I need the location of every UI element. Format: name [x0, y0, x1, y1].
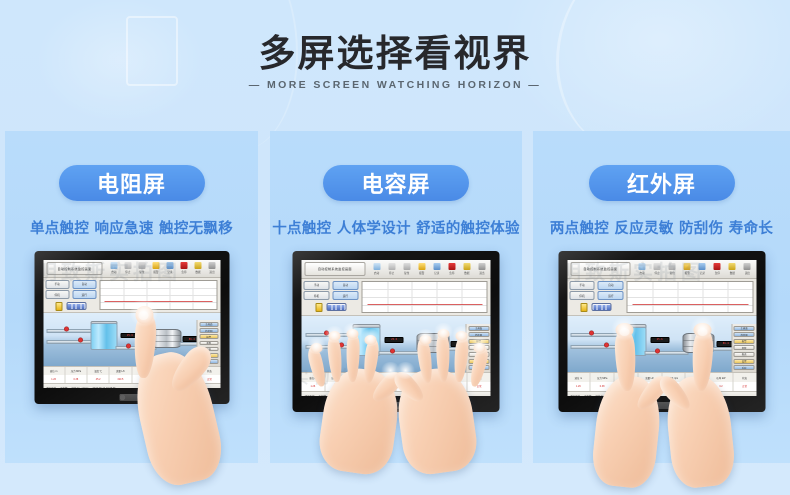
readout-display-1: 25.6: [121, 333, 139, 339]
page-title: 多屏选择看视界: [0, 23, 790, 77]
reaction-tank: [353, 327, 381, 356]
control-button-auto[interactable]: 自动: [598, 281, 624, 290]
rail-button-params[interactable]: 参数: [468, 345, 489, 350]
reaction-tank: [618, 327, 646, 356]
panel-features-resistive: 单点触控 响应急速 触控无飘移: [5, 217, 258, 238]
control-button-halt[interactable]: 停机: [45, 290, 69, 299]
hmi-side-rail[interactable]: 主画面 趋势图 报警 参数 报表 设置 系统: [197, 320, 220, 366]
hmi-process-diagram[interactable]: 25.6 86.4 主画面 趋势图 报警 参数: [43, 313, 220, 366]
toolbar-button-alarm[interactable]: 报警: [150, 262, 162, 274]
hmi-toolbar[interactable]: 启动 停止 复位 报警 记录 急停 数据 退出: [106, 260, 220, 277]
status-operator: 操作员：admin: [72, 386, 89, 388]
rail-button-system[interactable]: 系统: [734, 365, 755, 370]
control-button-manual[interactable]: 手动: [45, 280, 69, 289]
rail-button-alarm[interactable]: 报警: [199, 334, 218, 339]
toolbar-button-reset[interactable]: 复位: [400, 263, 413, 275]
monitor-bezel-3: 自动控制系统监控画面 启动 停止 复位 报警 记录 急停 数据 退出: [558, 251, 765, 412]
hmi-control-panel[interactable]: 手动 自动 停机 运行: [43, 278, 98, 313]
toolbar-label: 报警: [153, 270, 158, 274]
page-header: 多屏选择看视界 — MORE SCREEN WATCHING HORIZON —: [0, 0, 790, 120]
hmi-screen-2[interactable]: 自动控制系统监控画面 启动 停止 复位 报警 记录 急停 数据 退出: [302, 260, 491, 396]
monitor-brand-logo: [650, 402, 674, 409]
rail-button-params[interactable]: 参数: [199, 341, 218, 346]
rail-button-trend[interactable]: 趋势图: [468, 332, 489, 337]
status-alarm: 无报警: [584, 394, 592, 396]
reaction-tank: [91, 323, 118, 350]
panel-features-infrared: 两点触控 反应灵敏 防刮伤 寿命长: [533, 217, 790, 238]
rail-button-report[interactable]: 报表: [734, 352, 755, 357]
hmi-control-chart-row: 手动 自动 停机 运行: [302, 279, 491, 317]
rail-button-report[interactable]: 报表: [199, 347, 218, 352]
hmi-control-chart-row: 手动 自动 停机 运行: [43, 278, 220, 314]
rail-button-settings[interactable]: 设置: [734, 359, 755, 364]
hmi-data-table: 液位 m1.26 压力 MPa0.38 温度 ℃45.2 流量 L/h320.5…: [302, 373, 491, 392]
hmi-side-rail[interactable]: 主画面 趋势图 报警 参数 报表 设置 系统: [466, 324, 491, 373]
status-comm: 通讯正常: [305, 394, 315, 396]
hmi-trend-chart[interactable]: [99, 280, 217, 311]
toolbar-button-record[interactable]: 记录: [696, 263, 709, 275]
panel-badge-capacitive: 电容屏: [323, 165, 469, 201]
control-button-auto[interactable]: 自动: [72, 280, 96, 289]
control-button-run[interactable]: 运行: [332, 291, 358, 300]
panel-infrared[interactable]: 红外屏 两点触控 反应灵敏 防刮伤 寿命长 自动控制系统监控画面 启动 停止 复…: [533, 131, 790, 463]
toolbar-button-estop[interactable]: 急停: [711, 263, 724, 275]
indicator-lamp-icon: [55, 302, 62, 311]
hmi-titlebar-2: 自动控制系统监控画面 启动 停止 复位 报警 记录 急停 数据 退出: [302, 260, 491, 279]
rail-button-report[interactable]: 报表: [468, 352, 489, 357]
hmi-toolbar[interactable]: 启动 停止 复位 报警 记录 急停 数据 退出: [634, 260, 756, 278]
status-comm: 通讯正常: [570, 394, 580, 396]
indicator-lamp-icon: [315, 303, 322, 312]
hmi-control-panel[interactable]: 手动 自动 停机 运行: [567, 279, 626, 316]
control-button-manual[interactable]: 手动: [569, 281, 595, 290]
storage-vessel: [417, 333, 449, 353]
toolbar-button-stop[interactable]: 停止: [385, 263, 398, 275]
rail-button-main[interactable]: 主画面: [734, 326, 755, 331]
storage-vessel: [151, 329, 181, 348]
toolbar-button-start[interactable]: 启动: [636, 263, 649, 275]
hmi-titlebar-3: 自动控制系统监控画面 启动 停止 复位 报警 记录 急停 数据 退出: [567, 260, 756, 279]
control-button-run[interactable]: 运行: [598, 291, 624, 300]
rail-button-alarm[interactable]: 报警: [468, 339, 489, 344]
rail-button-settings[interactable]: 设置: [468, 359, 489, 364]
panel-capacitive[interactable]: 电容屏 十点触控 人体学设计 舒适的触控体验 自动控制系统监控画面 启动 停止 …: [270, 131, 522, 463]
page-background: 多屏选择看视界 — MORE SCREEN WATCHING HORIZON —…: [0, 0, 790, 495]
toolbar-button-reset[interactable]: 复位: [136, 262, 148, 274]
toolbar-button-data[interactable]: 数据: [460, 263, 473, 275]
toolbar-button-data[interactable]: 数据: [726, 263, 739, 275]
hmi-toolbar[interactable]: 启动 停止 复位 报警 记录 急停 数据 退出: [368, 260, 490, 278]
toolbar-button-data[interactable]: 数据: [192, 262, 204, 274]
toolbar-label: 数据: [195, 270, 200, 274]
hmi-status-bar: 通讯正常 无报警 操作员：admin 2023-08-12 10:25:36: [43, 384, 220, 388]
toolbar-button-record[interactable]: 记录: [164, 262, 176, 274]
toolbar-button-alarm[interactable]: 报警: [415, 263, 428, 275]
readout-display-1: 25.6: [650, 337, 669, 343]
control-button-manual[interactable]: 手动: [304, 281, 330, 290]
monitor-wrap-3: 自动控制系统监控画面 启动 停止 复位 报警 记录 急停 数据 退出: [558, 251, 765, 412]
control-button-auto[interactable]: 自动: [332, 281, 358, 290]
status-timestamp: 2023-08-12 10:25:36: [92, 387, 115, 388]
indicator-lamp-icon: [581, 303, 588, 312]
page-subtitle: — MORE SCREEN WATCHING HORIZON —: [0, 79, 790, 91]
status-alarm: 无报警: [60, 386, 68, 388]
hmi-status-bar: 通讯正常 无报警 操作员：admin 2023-08-12 10:25:36: [567, 392, 756, 396]
counter-display: [326, 303, 346, 311]
monitor-wrap-1: 自动控制系统监控画面 启动 停止 复位 报警 记录 急停 数据 退出: [34, 251, 229, 404]
toolbar-button-reset[interactable]: 复位: [666, 263, 679, 275]
monitor-brand-logo: [120, 394, 144, 401]
rail-button-system[interactable]: 系统: [468, 365, 489, 370]
panel-badge-infrared: 红外屏: [589, 165, 735, 201]
hmi-screen-1[interactable]: 自动控制系统监控画面 启动 停止 复位 报警 记录 急停 数据 退出: [43, 260, 220, 388]
toolbar-button-exit[interactable]: 退出: [206, 262, 218, 274]
toolbar-button-estop[interactable]: 急停: [178, 262, 190, 274]
control-button-halt[interactable]: 停机: [569, 291, 595, 300]
rail-button-system[interactable]: 系统: [199, 359, 218, 364]
toolbar-button-record[interactable]: 记录: [430, 263, 443, 275]
counter-display: [66, 302, 86, 310]
hmi-data-table: 液位 m1.26 压力 MPa0.38 温度 ℃45.2 流量 L/h320.5…: [567, 373, 756, 392]
hmi-window-title: 自动控制系统监控画面: [305, 262, 366, 276]
status-operator: 操作员：admin: [596, 394, 613, 396]
status-timestamp: 2023-08-12 10:25:36: [351, 394, 374, 396]
hmi-data-table: 液位 m1.26 压力 MPa0.38 温度 ℃45.2 流量 L/h320.5…: [43, 367, 220, 385]
status-timestamp: 2023-08-12 10:25:36: [616, 394, 639, 396]
toolbar-label: 急停: [181, 270, 186, 274]
toolbar-button-exit[interactable]: 退出: [475, 263, 488, 275]
hmi-screen-3[interactable]: 自动控制系统监控画面 启动 停止 复位 报警 记录 急停 数据 退出: [567, 260, 756, 396]
rail-button-params[interactable]: 参数: [734, 345, 755, 350]
rail-button-main[interactable]: 主画面: [199, 322, 218, 327]
control-button-halt[interactable]: 停机: [304, 291, 330, 300]
toolbar-button-stop[interactable]: 停止: [122, 262, 134, 274]
panel-badge-resistive: 电阻屏: [59, 165, 205, 201]
toolbar-button-alarm[interactable]: 报警: [681, 263, 694, 275]
hmi-window-title: 自动控制系统监控画面: [570, 262, 631, 276]
status-comm: 通讯正常: [46, 386, 56, 388]
hmi-process-diagram[interactable]: 25.6 86.4 主画面 趋势图 报警 参数: [302, 316, 491, 373]
monitor-wrap-2: 自动控制系统监控画面 启动 停止 复位 报警 记录 急停 数据 退出: [293, 251, 500, 412]
hmi-titlebar-1: 自动控制系统监控画面 启动 停止 复位 报警 记录 急停 数据 退出: [43, 260, 220, 278]
toolbar-button-stop[interactable]: 停止: [651, 263, 664, 275]
toolbar-button-estop[interactable]: 急停: [445, 263, 458, 275]
readout-display-1: 25.6: [385, 337, 404, 343]
rail-button-settings[interactable]: 设置: [199, 353, 218, 358]
panel-resistive[interactable]: 电阻屏 单点触控 响应急速 触控无飘移 自动控制系统监控画面 启动 停止 复位 …: [5, 131, 258, 463]
hmi-trend-chart[interactable]: [627, 281, 753, 314]
panel-features-capacitive: 十点触控 人体学设计 舒适的触控体验: [270, 217, 522, 238]
toolbar-label: 停止: [125, 270, 130, 274]
monitor-brand-logo: [384, 402, 408, 409]
monitor-bezel-2: 自动控制系统监控画面 启动 停止 复位 报警 记录 急停 数据 退出: [293, 251, 500, 412]
status-alarm: 无报警: [319, 394, 327, 396]
control-button-run[interactable]: 运行: [72, 290, 96, 299]
monitor-bezel-1: 自动控制系统监控画面 启动 停止 复位 报警 记录 急停 数据 退出: [34, 251, 229, 404]
rail-button-main[interactable]: 主画面: [468, 326, 489, 331]
hmi-process-diagram[interactable]: 25.6 86.4 主画面 趋势图 报警 参数: [567, 316, 756, 373]
status-operator: 操作员：admin: [330, 394, 347, 396]
toolbar-label: 启动: [111, 270, 116, 274]
toolbar-label: 退出: [209, 270, 214, 274]
rail-button-trend[interactable]: 趋势图: [734, 332, 755, 337]
toolbar-label: 记录: [167, 270, 172, 274]
hmi-side-rail[interactable]: 主画面 趋势图 报警 参数 报表 设置 系统: [731, 324, 756, 373]
hmi-trend-chart[interactable]: [361, 281, 487, 314]
toolbar-button-exit[interactable]: 退出: [741, 263, 754, 275]
counter-display: [592, 303, 612, 311]
hmi-status-bar: 通讯正常 无报警 操作员：admin 2023-08-12 10:25:36: [302, 392, 491, 396]
toolbar-button-start[interactable]: 启动: [108, 262, 120, 274]
hmi-window-title: 自动控制系统监控画面: [46, 262, 103, 275]
hmi-control-panel[interactable]: 手动 自动 停机 运行: [302, 279, 361, 316]
panel-row: 电阻屏 单点触控 响应急速 触控无飘移 自动控制系统监控画面 启动 停止 复位 …: [0, 131, 790, 463]
hmi-control-chart-row: 手动 自动 停机 运行: [567, 279, 756, 317]
rail-button-alarm[interactable]: 报警: [734, 339, 755, 344]
toolbar-label: 复位: [139, 270, 144, 274]
toolbar-button-start[interactable]: 启动: [370, 263, 383, 275]
storage-vessel: [682, 333, 714, 353]
rail-button-trend[interactable]: 趋势图: [199, 328, 218, 333]
